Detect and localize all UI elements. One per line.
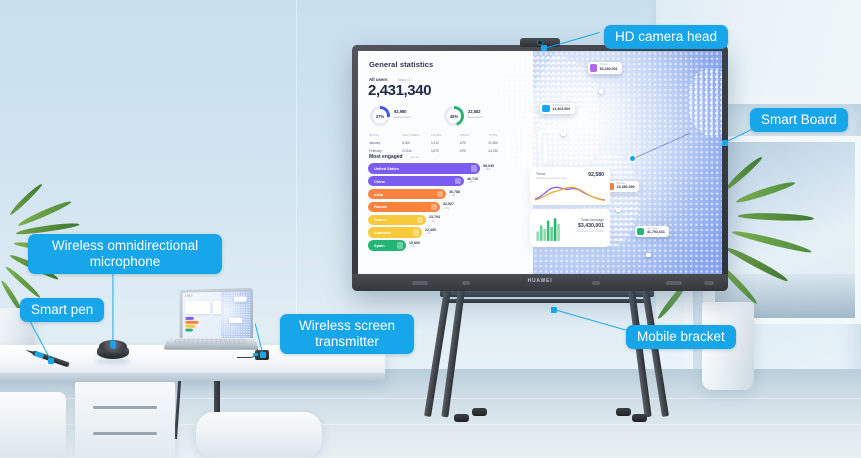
board-bezel: Toronto$3,430,001 Washington D.C.12,303,… (352, 45, 728, 291)
dashboard: Toronto$3,430,001 Washington D.C.12,303,… (358, 51, 722, 275)
bar-country: Russia (374, 204, 387, 209)
leader-line-microphone (112, 267, 113, 345)
most-engaged-sublabel[interactable]: see all (410, 155, 419, 159)
map-dot (561, 132, 566, 137)
table-row: January 8,400 3,210 12% 21,500 (369, 139, 517, 147)
desk-edge (0, 373, 385, 381)
bar-value-sub: + 9% (467, 182, 478, 185)
th: NEW USERS (402, 133, 431, 137)
donut-new-users-text: 22,582 New users (468, 109, 483, 119)
donut-value: 92,980 (394, 109, 407, 114)
td: 3,210 (431, 141, 460, 145)
stats-table: MONTH NEW USERS CHURN TREND TOTAL Januar… (369, 131, 517, 156)
card-value: $3,430,001 (576, 223, 604, 229)
bar-value-text: 32,507 (443, 202, 454, 206)
th: CHURN (431, 133, 460, 137)
bar-country: Australia (374, 230, 391, 235)
marker-icon (590, 64, 598, 72)
drawer-handle[interactable] (93, 432, 157, 435)
list-item[interactable]: France 23,794 + 4% (368, 215, 494, 226)
list-item[interactable]: United States 58,045 + 12% (368, 163, 494, 174)
map-marker-washington[interactable]: Washington D.C.12,303,500 (540, 103, 575, 115)
bar-chip-icon (437, 191, 444, 198)
td: 21,500 (488, 141, 517, 145)
card-label: Total coverage (576, 218, 604, 222)
bar-value-text: 23,794 (429, 215, 440, 219)
bar-value-sub: + 12% (483, 169, 494, 172)
drawer-handle[interactable] (93, 406, 157, 409)
map-marker-toronto[interactable]: Toronto$3,430,001 (588, 62, 622, 74)
bar-chip-icon (431, 204, 438, 211)
bar-value-sub: + 2% (409, 246, 420, 249)
board-control-button[interactable] (462, 281, 470, 285)
bar-chip-icon (417, 217, 424, 224)
td: January (369, 141, 402, 145)
bar-value-sub: + 6% (443, 208, 454, 211)
trend-card[interactable]: Trend Compared to 12% last year 92,580 (530, 167, 610, 205)
bar-chip-icon (397, 242, 404, 249)
bar-country: India (374, 192, 383, 197)
card-sublabel: Accounted to 87% ARPU (576, 230, 604, 233)
map-dot (616, 208, 621, 213)
bracket-caster (472, 408, 487, 416)
kpi-value: 2,431,340 (368, 82, 431, 99)
list-item[interactable]: Australia 22,450 + 3% (368, 227, 494, 238)
list-item[interactable]: China 46,710 + 9% (368, 176, 494, 187)
callout-smart-board[interactable]: Smart Board (750, 108, 848, 132)
desk-drawer-unit (75, 382, 175, 458)
td: 8,400 (402, 141, 431, 145)
donut-caption: New users (468, 115, 483, 119)
marker-icon (542, 105, 550, 113)
callout-wireless-screen-transmitter[interactable]: Wireless screen transmitter (280, 314, 414, 354)
bar-country: United States (374, 166, 399, 171)
callout-wireless-omnidirectional-microphone[interactable]: Wireless omnidirectional microphone (28, 234, 222, 274)
board-brand-logo: HUAWEI (528, 278, 553, 284)
laptop-base[interactable] (163, 338, 260, 350)
laptop-screen[interactable]: 2,431,3 (182, 291, 250, 340)
callout-hd-camera-head[interactable]: HD camera head (604, 25, 728, 49)
bar-value-text: 36,788 (449, 190, 460, 194)
list-item[interactable]: Spain 15,800 + 2% (368, 240, 494, 251)
card-value: 92,580 (588, 172, 604, 178)
board-screen[interactable]: Toronto$3,430,001 Washington D.C.12,303,… (358, 51, 722, 275)
bar-chip-icon (455, 178, 462, 185)
bar-chip-icon (471, 165, 478, 172)
donut-caption: Active users (394, 115, 411, 119)
card-sublabel: Compared to 12% last year (536, 177, 566, 180)
callout-mobile-bracket[interactable]: Mobile bracket (626, 325, 736, 349)
donut-active-users-text: 92,980 Active users (394, 109, 411, 119)
map-marker-sao-paulo[interactable]: Sao Paulo41,793,631 (635, 226, 669, 238)
bracket-crossbar (440, 290, 654, 297)
bracket-crossbar-lower (444, 299, 650, 303)
bar-country: Spain (374, 243, 385, 248)
donut-new-users: 45% (444, 106, 464, 126)
laptop-keyboard[interactable] (173, 339, 250, 347)
pen-tip (25, 349, 35, 355)
board-control-button[interactable] (412, 281, 428, 285)
laptop-trackpad[interactable] (200, 347, 220, 349)
td: 12% (460, 141, 489, 145)
marker-value: 23,380,390 (617, 186, 635, 190)
bar-value: 36,788 + 7% (449, 191, 460, 198)
bar-value: 46,710 + 9% (467, 178, 478, 185)
marker-value: 12,303,500 (552, 108, 571, 112)
marker-value: 41,793,631 (647, 231, 665, 235)
bar-value-sub: + 4% (429, 221, 440, 224)
office-chair-left (0, 392, 66, 458)
kpi-sublabel: March, 4 (398, 78, 410, 82)
mobile-bracket (432, 286, 662, 428)
board-control-button[interactable] (666, 281, 682, 285)
td: 44,230 (488, 149, 517, 153)
laptop-lid: 2,431,3 (180, 288, 253, 342)
page-title: General statistics (369, 60, 433, 69)
table-header-row: MONTH NEW USERS CHURN TREND TOTAL (369, 131, 517, 139)
total-coverage-card[interactable]: Total coverage $3,430,001 Accounted to 8… (530, 209, 610, 247)
trend-sparkline (535, 182, 605, 202)
map-dot (599, 89, 604, 94)
bar-country: France (374, 217, 387, 222)
bracket-caster (632, 414, 647, 422)
callout-smart-pen[interactable]: Smart pen (20, 298, 104, 322)
bar-value: 58,045 + 12% (483, 165, 494, 172)
list-item[interactable]: Russia 32,507 + 6% (368, 202, 494, 213)
list-item[interactable]: India 36,788 + 7% (368, 189, 494, 200)
coverage-bar-icon (536, 217, 562, 241)
marker-value: $3,430,001 (600, 68, 618, 72)
bracket-caster (454, 414, 469, 422)
td: 3,870 (431, 149, 460, 153)
marker-icon (637, 228, 645, 236)
donut-percent: 27% (370, 106, 390, 126)
th: TOTAL (488, 133, 517, 137)
th: MONTH (369, 133, 402, 137)
most-engaged-title: Most engaged (369, 154, 403, 160)
bar-country: China (374, 179, 385, 184)
th: TREND (460, 133, 489, 137)
bar-value-sub: + 7% (449, 195, 460, 198)
smart-board[interactable]: Toronto$3,430,001 Washington D.C.12,303,… (352, 45, 728, 291)
bar-value-sub: + 3% (425, 233, 436, 236)
bar-value: 15,800 + 2% (409, 242, 420, 249)
donut-active-users: 27% (370, 106, 390, 126)
product-scene: Toronto$3,430,001 Washington D.C.12,303,… (0, 0, 861, 458)
bar-value: 32,507 + 6% (443, 203, 454, 210)
pen-grip (34, 351, 44, 358)
td: February (369, 149, 402, 153)
donut-value: 22,582 (468, 109, 481, 114)
office-chair-right (196, 412, 322, 458)
board-port-icon[interactable] (704, 281, 714, 285)
bracket-caster (616, 408, 631, 416)
donut-percent: 45% (444, 106, 464, 126)
board-chin: HUAWEI (352, 274, 728, 291)
bar-chip-icon (413, 229, 420, 236)
board-control-button[interactable] (592, 281, 600, 285)
card-label: Trend (536, 172, 566, 176)
bar-value: 22,450 + 3% (425, 229, 436, 236)
bar-value: 23,794 + 4% (429, 216, 440, 223)
td: 23% (460, 149, 489, 153)
map-dot (646, 253, 651, 258)
dongle-connector-icon (253, 353, 258, 356)
most-engaged-list: United States 58,045 + 12% China (368, 163, 494, 253)
td: 12,540 (402, 149, 431, 153)
